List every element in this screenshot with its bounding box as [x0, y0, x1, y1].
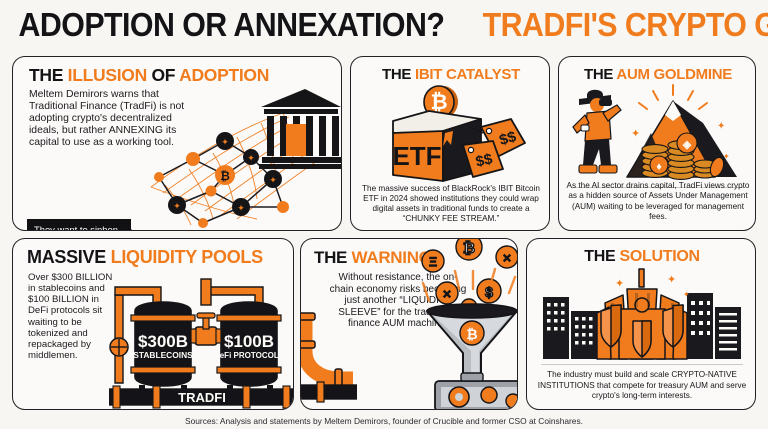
divider — [541, 364, 743, 365]
tank-1-amount: $300B — [138, 332, 188, 351]
svg-text:₿: ₿ — [466, 326, 477, 342]
svg-text:✦: ✦ — [667, 274, 676, 286]
svg-text:✦: ✦ — [683, 290, 690, 299]
svg-text:✦: ✦ — [247, 153, 255, 163]
binoculars-icon — [599, 99, 612, 106]
svg-text:$: $ — [485, 284, 493, 300]
gear-machine-icon — [435, 373, 518, 410]
svg-text:✦: ✦ — [723, 152, 730, 161]
panel-aum-goldmine: THE AUM GOLDMINE ✦ ✦ ✦ — [558, 56, 756, 231]
svg-text:₿: ₿ — [220, 169, 230, 183]
heading-seg-the: THE — [314, 248, 352, 267]
svg-text:✦: ✦ — [237, 203, 245, 213]
svg-text:₿: ₿ — [463, 240, 475, 257]
panel-illusion-callout: They want to siphon liquidity into off-c… — [27, 219, 131, 231]
panel-ibit-caption: The massive success of BlackRock's IBIT … — [358, 184, 544, 224]
panel-warning-heading: THE WARNING — [314, 249, 432, 266]
panel-massive-liquidity-pools: MASSIVE LIQUIDITY POOLS Over $300 BILLIO… — [12, 238, 294, 410]
bank-building-icon — [259, 89, 342, 169]
prospector-figure-icon — [573, 90, 621, 173]
two-storage-tanks-on-pipeline-icon: $300B STABLECOINS $100B DeFi PROTOCOLS — [109, 265, 294, 409]
title-dark-part: ADOPTION OR ANNEXATION? — [19, 6, 445, 44]
tank-2-amount: $100B — [224, 332, 274, 351]
panel-aum-heading: THE AUM GOLDMINE — [559, 67, 756, 82]
svg-text:Ξ: Ξ — [429, 255, 437, 269]
svg-text:◈: ◈ — [682, 139, 692, 151]
svg-text:✦: ✦ — [221, 137, 229, 147]
title-orange-part: TRADFI'S CRYPTO GRAB — [483, 6, 768, 44]
heading-seg-liquidity-pools: LIQUIDITY POOLS — [111, 247, 263, 267]
page-title: ADOPTION OR ANNEXATION? TRADFI'S CRYPTO … — [0, 6, 768, 44]
sources-footer: Sources: Analysis and statements by Melt… — [0, 416, 768, 426]
svg-text:✦: ✦ — [631, 128, 640, 140]
heading-seg-the: THE — [29, 65, 68, 85]
svg-text:✕: ✕ — [442, 289, 451, 301]
heading-seg-ibit-catalyst: IBIT CATALYST — [415, 66, 520, 83]
svg-text:₿: ₿ — [430, 91, 447, 114]
svg-text:✦: ✦ — [173, 201, 181, 211]
svg-text:✦: ✦ — [717, 121, 725, 132]
coins-into-funnel-gear-machine-icon: Ξ ₿ ✕ ✕ $ ₿ — [417, 238, 518, 410]
pipe-label: TRADFI — [178, 390, 226, 405]
tank-defi: $100B DeFi PROTOCOLS — [214, 302, 285, 399]
panel-illusion-of-adoption: THE ILLUSION OF ADOPTION Meltem Demirors… — [12, 56, 342, 231]
etf-box-with-bitcoin-and-dollar-tags-icon: ₿ ETF $$ $$ — [377, 83, 527, 187]
panel-pools-heading: MASSIVE LIQUIDITY POOLS — [27, 248, 263, 266]
tank-stablecoins: $300B STABLECOINS — [131, 302, 195, 399]
panel-ibit-catalyst: THE IBIT CATALYST ₿ ETF $$ — [350, 56, 550, 231]
panel-the-warning: THE WARNING Without resistance, the on-c… — [300, 238, 518, 410]
funnel-icon: ₿ — [427, 304, 517, 383]
svg-text:✦: ✦ — [615, 278, 624, 290]
orange-fortress-with-shields-and-skyline-icon: ✦ ✦ ✦ — [539, 263, 745, 361]
panel-pools-body: Over $300 BILLION in stablecoins and $10… — [28, 272, 120, 361]
panel-solution-caption: The industry must build and scale CRYPTO… — [535, 370, 749, 401]
heading-seg-massive: MASSIVE — [27, 247, 111, 267]
svg-text:♦: ♦ — [656, 161, 662, 173]
svg-text:✦: ✦ — [269, 175, 277, 185]
panel-the-solution: THE SOLUTION — [526, 238, 756, 410]
prospector-with-binoculars-and-coin-mountain-icon: ✦ ✦ ✦ ◈ ♦ — [565, 81, 751, 181]
panel-aum-caption: As the AI sector drains capital, TradFi … — [565, 181, 751, 222]
panel-ibit-heading: THE IBIT CATALYST — [351, 67, 550, 82]
bank-net-over-crypto-network-icon: ✦ ✦ ₿ ✦ ✦ ✦ — [133, 79, 342, 231]
etf-box-label: ETF — [392, 141, 441, 171]
elbow-pipe-icon — [300, 311, 357, 409]
tank-1-label: STABLECOINS — [133, 350, 193, 360]
heading-seg-the: THE — [382, 66, 415, 83]
tank-2-label: DeFi PROTOCOLS — [214, 351, 285, 360]
svg-text:✕: ✕ — [502, 253, 511, 265]
infographic-page: ADOPTION OR ANNEXATION? TRADFI'S CRYPTO … — [0, 0, 768, 429]
